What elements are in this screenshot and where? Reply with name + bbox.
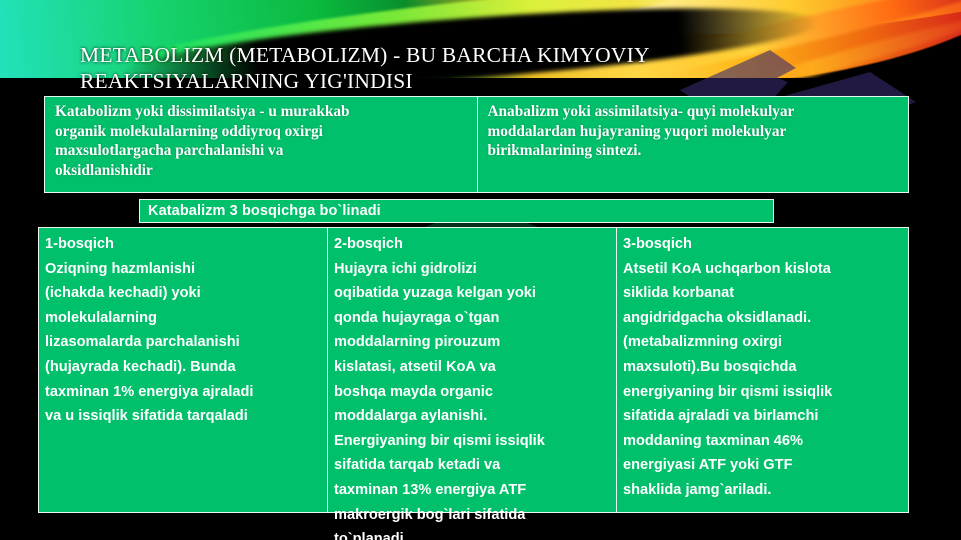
definitions-table: Katabolizm yoki dissimilatsiya - u murak… — [44, 96, 909, 193]
catabolism-definition-cell: Katabolizm yoki dissimilatsiya - u murak… — [45, 97, 478, 192]
page-title: METABOLIZM (METABOLIZM) - BU BARCHA KIMY… — [80, 42, 760, 94]
stages-banner: Katabalizm 3 bosqichga bo`linadi — [139, 199, 774, 223]
stages-table: 1-bosqich Oziqning hazmlanishi (ichakda … — [38, 227, 909, 513]
anabolism-definition-cell: Anabalizm yoki assimilatsiya- quyi molek… — [478, 97, 909, 192]
stage-3-cell: 3-bosqich Atsetil KoA uchqarbon kislota … — [617, 228, 908, 512]
stage-1-cell: 1-bosqich Oziqning hazmlanishi (ichakda … — [39, 228, 328, 512]
stage-2-cell: 2-bosqich Hujayra ichi gidrolizi oqibati… — [328, 228, 617, 512]
slide-canvas: METABOLIZM (METABOLIZM) - BU BARCHA KIMY… — [0, 0, 961, 540]
